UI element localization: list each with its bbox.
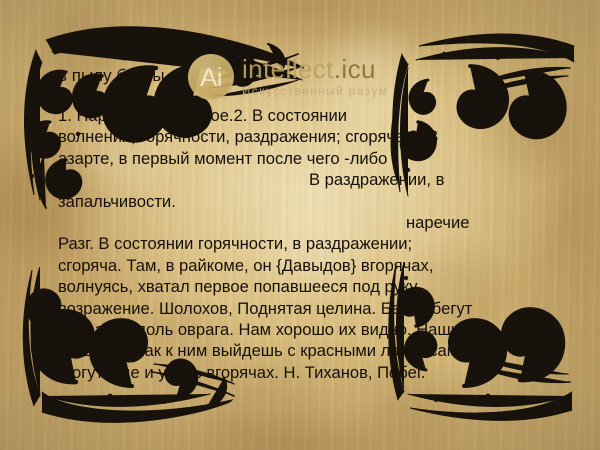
- definition-line-12: Могут еще и убить вгорячах. Н. Тиханов, …: [58, 362, 558, 383]
- watermark: Ai intellect.icu Искусственный разум: [188, 54, 388, 100]
- definition-line-3: азарте, в первый момент после чего -либо: [58, 148, 558, 169]
- logo-text: Ai: [200, 64, 222, 90]
- definition-line-11: Наши! Но как к ним выйдешь с красными ла…: [58, 340, 558, 361]
- definition-line-4: В раздражении, в: [58, 169, 558, 190]
- ai-circle-logo-icon: Ai: [188, 54, 234, 100]
- definition-line-5: запальчивости.: [58, 191, 558, 212]
- headword: в пылу битвы: [58, 66, 165, 86]
- definition-body: 1. Нареч. разговорное.2. В состоянии вол…: [58, 105, 558, 383]
- definition-line-5-right: наречие: [58, 212, 558, 233]
- definition-line-6: Разг. В состоянии горячности, в раздраже…: [58, 233, 558, 254]
- watermark-subtitle: Искусственный разум: [242, 87, 388, 99]
- watermark-brand: intellect.icu: [242, 56, 388, 82]
- watermark-brand-name: intellect: [242, 54, 334, 84]
- definition-line-10: солдаты вдоль оврага. Нам хорошо их видн…: [58, 319, 558, 340]
- definition-line-8: волнуясь, хватал первое попавшееся под р…: [58, 276, 558, 297]
- definition-line-7: сгоряча. Там, в райкоме, он {Давыдов} вг…: [58, 255, 558, 276]
- watermark-brand-domain: .icu: [334, 54, 376, 84]
- definition-line-9: возражение. Шолохов, Поднятая целина. Бе…: [58, 298, 558, 319]
- watermark-text: intellect.icu Искусственный разум: [242, 56, 388, 99]
- parchment-page: Ai intellect.icu Искусственный разум в п…: [0, 0, 600, 450]
- definition-line-1: 1. Нареч. разговорное.2. В состоянии: [58, 105, 558, 126]
- definition-line-2: волнения, горячности, раздражения; сгоря…: [58, 126, 558, 147]
